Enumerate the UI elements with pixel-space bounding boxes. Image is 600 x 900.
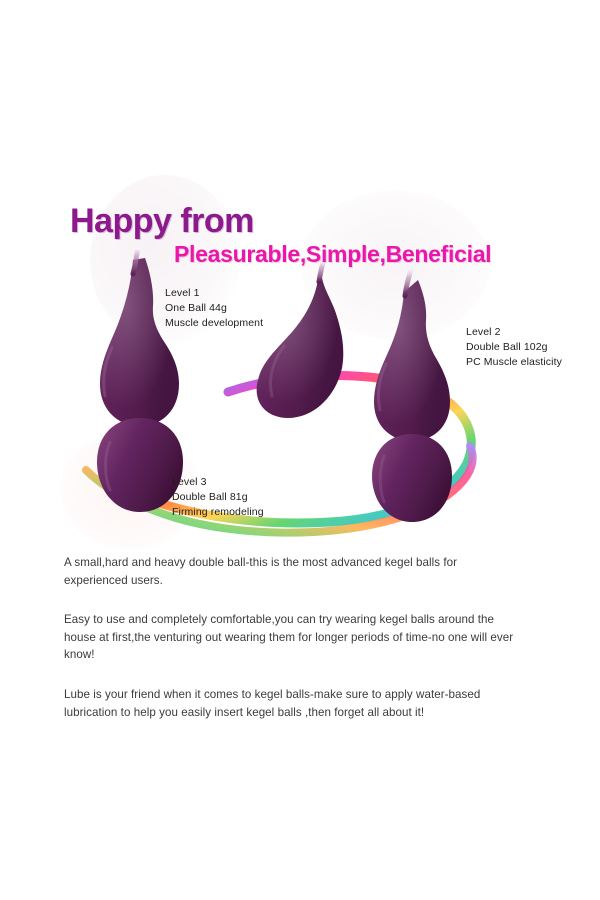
- callout-level-2: Level 2 Double Ball 102g PC Muscle elast…: [466, 325, 562, 370]
- callout-level-2-spec: Double Ball 102g: [466, 340, 562, 355]
- description-paragraph-3: Lube is your friend when it comes to keg…: [64, 686, 522, 721]
- callout-level-1: Level 1 One Ball 44g Muscle development: [165, 286, 263, 331]
- callout-level-2-title: Level 2: [466, 325, 562, 340]
- description-paragraph-2: Easy to use and completely comfortable,y…: [64, 611, 522, 664]
- product-infographic-page: Happy from Pleasurable,Simple,Beneficial…: [0, 0, 600, 900]
- description-block: A small,hard and heavy double ball-this …: [64, 554, 522, 721]
- callout-level-1-title: Level 1: [165, 286, 263, 301]
- product-hero-illustration: [0, 250, 600, 550]
- callout-level-3-benefit: Firming remodeling: [172, 505, 264, 520]
- callout-level-3-title: Level 3: [172, 475, 264, 490]
- product-level-1-single-ball: [257, 278, 344, 418]
- callout-level-1-spec: One Ball 44g: [165, 301, 263, 316]
- callout-level-3-spec: Double Ball 81g: [172, 490, 264, 505]
- callout-level-2-benefit: PC Muscle elasticity: [466, 355, 562, 370]
- callout-level-1-benefit: Muscle development: [165, 316, 263, 331]
- headline-block: Happy from Pleasurable,Simple,Beneficial: [70, 204, 540, 266]
- description-paragraph-1: A small,hard and heavy double ball-this …: [64, 554, 522, 589]
- callout-level-3: Level 3 Double Ball 81g Firming remodeli…: [172, 475, 264, 520]
- product-level-2-double-ball: [372, 280, 452, 522]
- headline-line-2: Pleasurable,Simple,Beneficial: [174, 242, 540, 266]
- headline-line-1: Happy from: [70, 204, 540, 240]
